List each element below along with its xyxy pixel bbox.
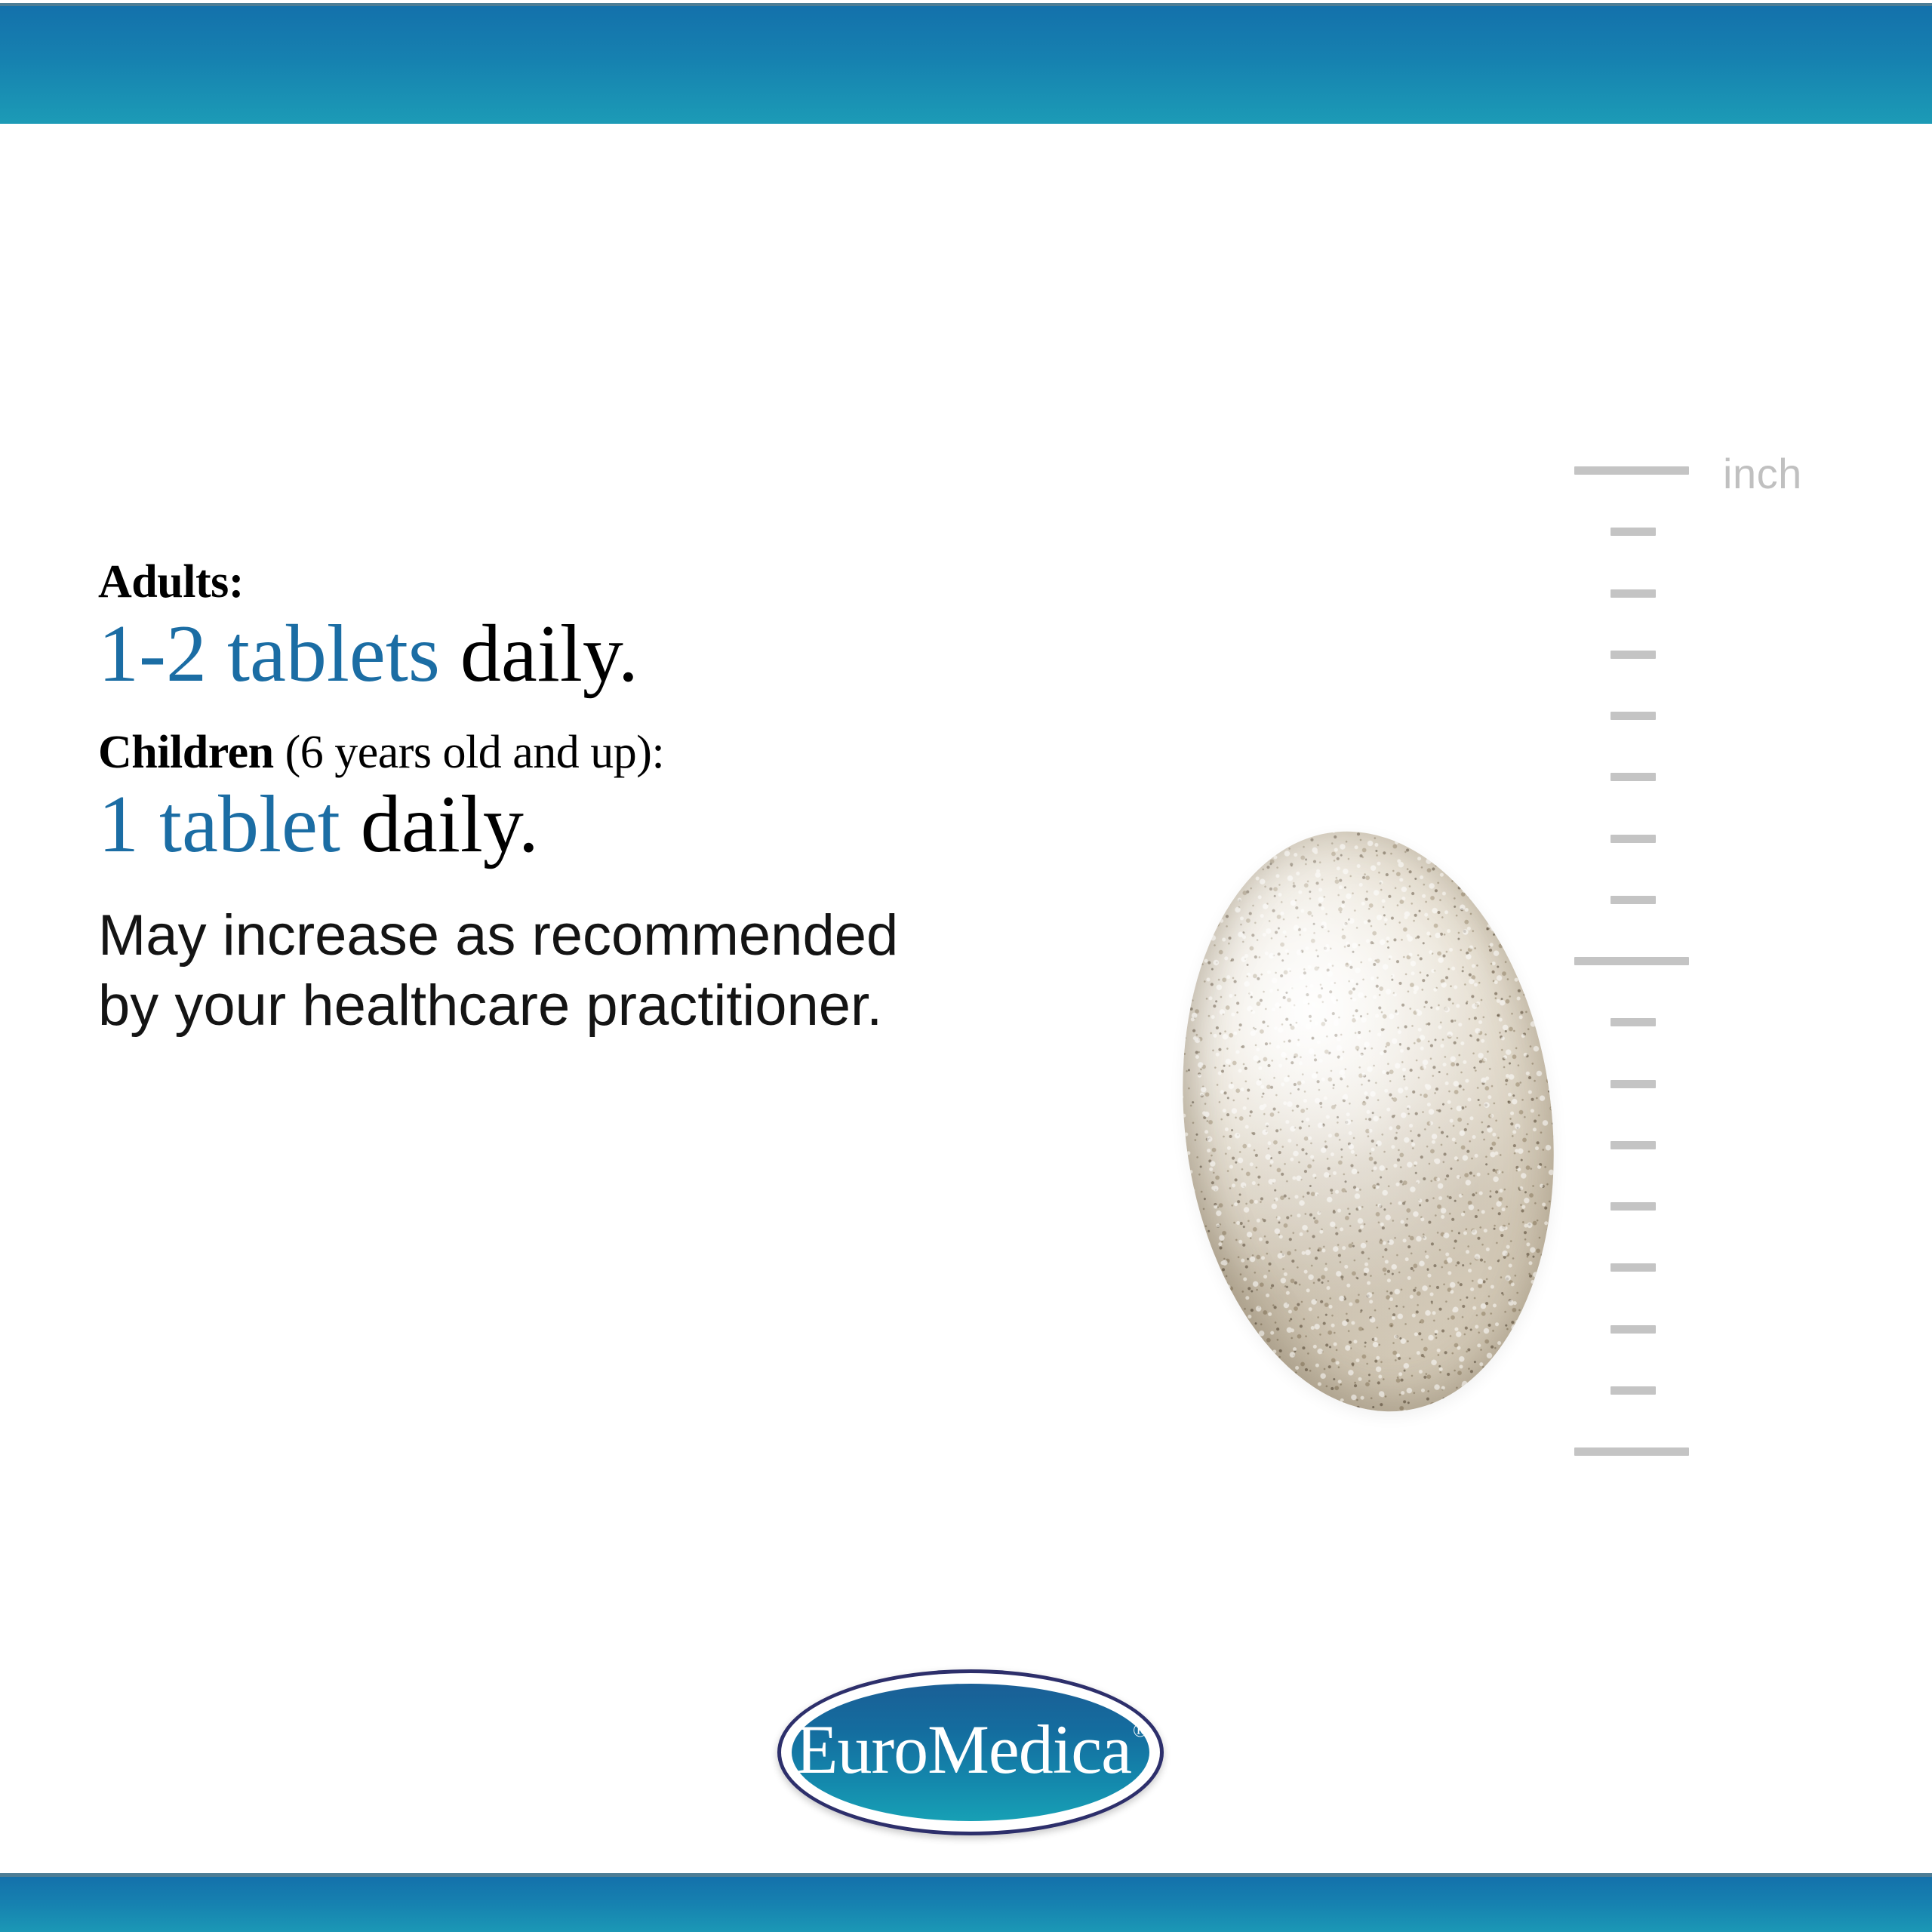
adults-dose-frequency: daily. <box>440 609 638 699</box>
ruler-minor-tick <box>1611 1141 1656 1149</box>
registered-trademark-icon: ® <box>1133 1719 1147 1741</box>
children-dose-line: 1 tablet daily. <box>98 783 1124 866</box>
ruler-minor-tick <box>1611 1018 1656 1026</box>
children-dose-frequency: daily. <box>340 780 539 869</box>
children-label-text: Children <box>98 727 274 778</box>
logo-wordmark-text: EuroMedica <box>795 1711 1131 1788</box>
ruler-minor-tick <box>1611 589 1656 598</box>
ruler-minor-tick <box>1611 1202 1656 1211</box>
ruler-major-tick <box>1574 1447 1689 1456</box>
ruler-minor-tick <box>1611 773 1656 781</box>
ruler-minor-tick <box>1611 1386 1656 1395</box>
logo-inner-oval: EuroMedica® <box>792 1684 1149 1821</box>
logo-outer-border: EuroMedica® <box>777 1669 1164 1835</box>
ruler-minor-tick <box>1611 651 1656 659</box>
ruler-unit-label: inch <box>1723 453 1802 495</box>
bottom-brand-bar <box>0 1873 1932 1932</box>
product-dosage-panel: Adults: 1-2 tablets daily. Children (6 y… <box>0 0 1932 1932</box>
top-brand-bar <box>0 3 1932 124</box>
logo-white-ring: EuroMedica® <box>781 1673 1160 1832</box>
euromedica-logo: EuroMedica® <box>777 1669 1164 1835</box>
dosage-note-line-2: by your healthcare practitioner. <box>98 971 1102 1041</box>
ruler-major-tick <box>1574 466 1689 475</box>
ruler-minor-tick <box>1611 1263 1656 1272</box>
ruler-minor-tick <box>1611 1080 1656 1088</box>
inch-ruler <box>1574 466 1695 1447</box>
ruler-major-tick <box>1574 957 1689 965</box>
dosage-copy-block: Adults: 1-2 tablets daily. Children (6 y… <box>98 558 1124 1041</box>
dosage-note-line-1: May increase as recommended <box>98 901 1102 971</box>
ruler-minor-tick <box>1611 712 1656 720</box>
logo-wordmark: EuroMedica® <box>795 1715 1145 1784</box>
dosage-note: May increase as recommended by your heal… <box>98 901 1102 1041</box>
tablet-speckle-layer <box>1151 810 1586 1432</box>
children-age-qualifier: (6 years old and up): <box>274 727 665 778</box>
adults-dose-amount: 1-2 tablets <box>98 609 440 699</box>
ruler-minor-tick <box>1611 896 1656 904</box>
adults-dose-line: 1-2 tablets daily. <box>98 613 1124 696</box>
tablet-oval <box>1151 810 1586 1432</box>
children-label: Children (6 years old and up): <box>98 729 1124 776</box>
tablet-image <box>1185 830 1552 1413</box>
adults-label-text: Adults: <box>98 556 244 608</box>
ruler-minor-tick <box>1611 835 1656 843</box>
children-dose-amount: 1 tablet <box>98 780 340 869</box>
ruler-minor-tick <box>1611 528 1656 536</box>
adults-label: Adults: <box>98 558 1124 605</box>
ruler-minor-tick <box>1611 1325 1656 1334</box>
